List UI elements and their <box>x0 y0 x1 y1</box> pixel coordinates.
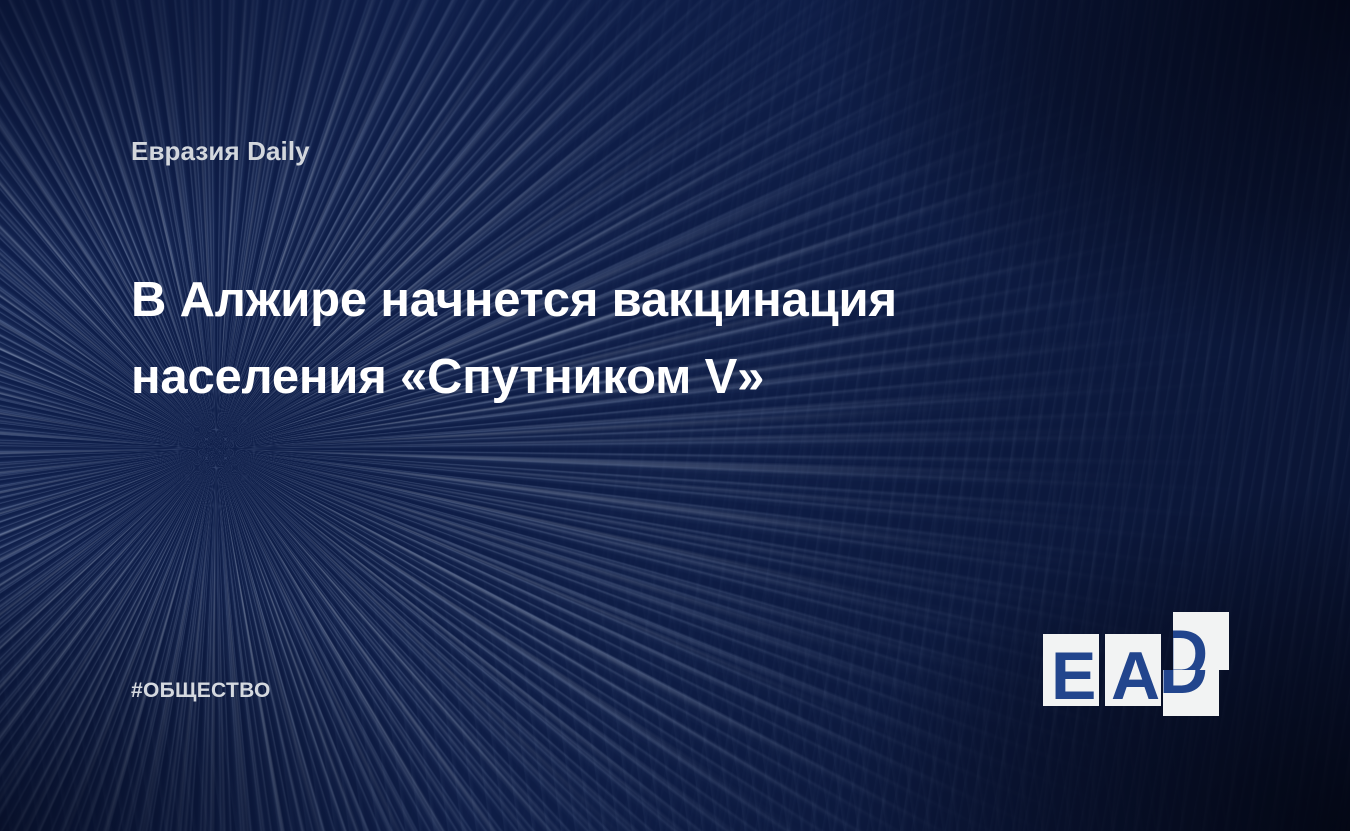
brand-name: Евразия Daily <box>131 136 310 167</box>
headline-line-2: населения «Спутником V» <box>131 339 1031 416</box>
logo-letter-e: E <box>1051 642 1096 706</box>
logo-tile-e: E <box>1043 634 1099 706</box>
category-tag[interactable]: #ОБЩЕСТВО <box>131 679 271 703</box>
logo-letter-d-bottom: D <box>1163 670 1208 704</box>
logo-letter-a: A <box>1111 642 1160 706</box>
logo-letter-d-top: D <box>1173 620 1208 670</box>
headline: В Алжире начнется вакцинация населения «… <box>131 262 1031 416</box>
logo-tile-a: A <box>1105 634 1161 706</box>
card-content: Евразия Daily В Алжире начнется вакцинац… <box>0 0 1350 831</box>
news-card: Евразия Daily В Алжире начнется вакцинац… <box>0 0 1350 831</box>
headline-line-1: В Алжире начнется вакцинация <box>131 262 1031 339</box>
logo-tile-d-top: D <box>1173 612 1229 670</box>
logo-tile-d-bottom: D <box>1163 670 1219 716</box>
ead-logo: E A D D <box>1043 612 1233 716</box>
